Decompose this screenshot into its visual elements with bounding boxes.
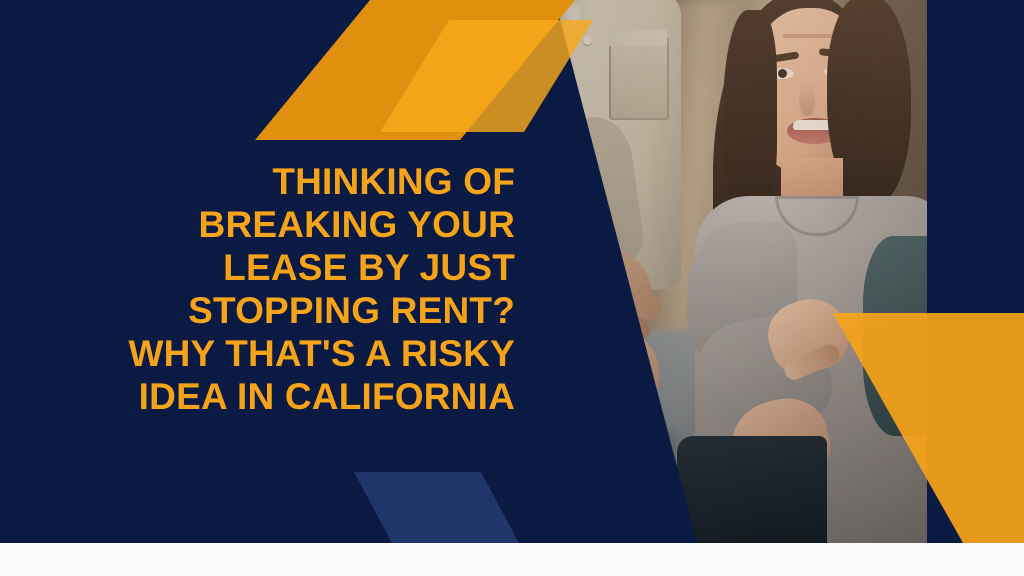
- headline-line-4: STOPPING RENT?: [40, 289, 515, 332]
- headline: THINKING OF BREAKING YOUR LEASE BY JUST …: [40, 160, 515, 418]
- lease-banner: THINKING OF BREAKING YOUR LEASE BY JUST …: [0, 0, 1024, 576]
- headline-line-6: IDEA IN CALIFORNIA: [40, 375, 515, 418]
- headline-line-1: THINKING OF: [40, 160, 515, 203]
- headline-line-5: WHY THAT'S A RISKY: [40, 332, 515, 375]
- bottom-white-strip: [0, 543, 1024, 576]
- headline-line-2: BREAKING YOUR: [40, 203, 515, 246]
- headline-line-3: LEASE BY JUST: [40, 246, 515, 289]
